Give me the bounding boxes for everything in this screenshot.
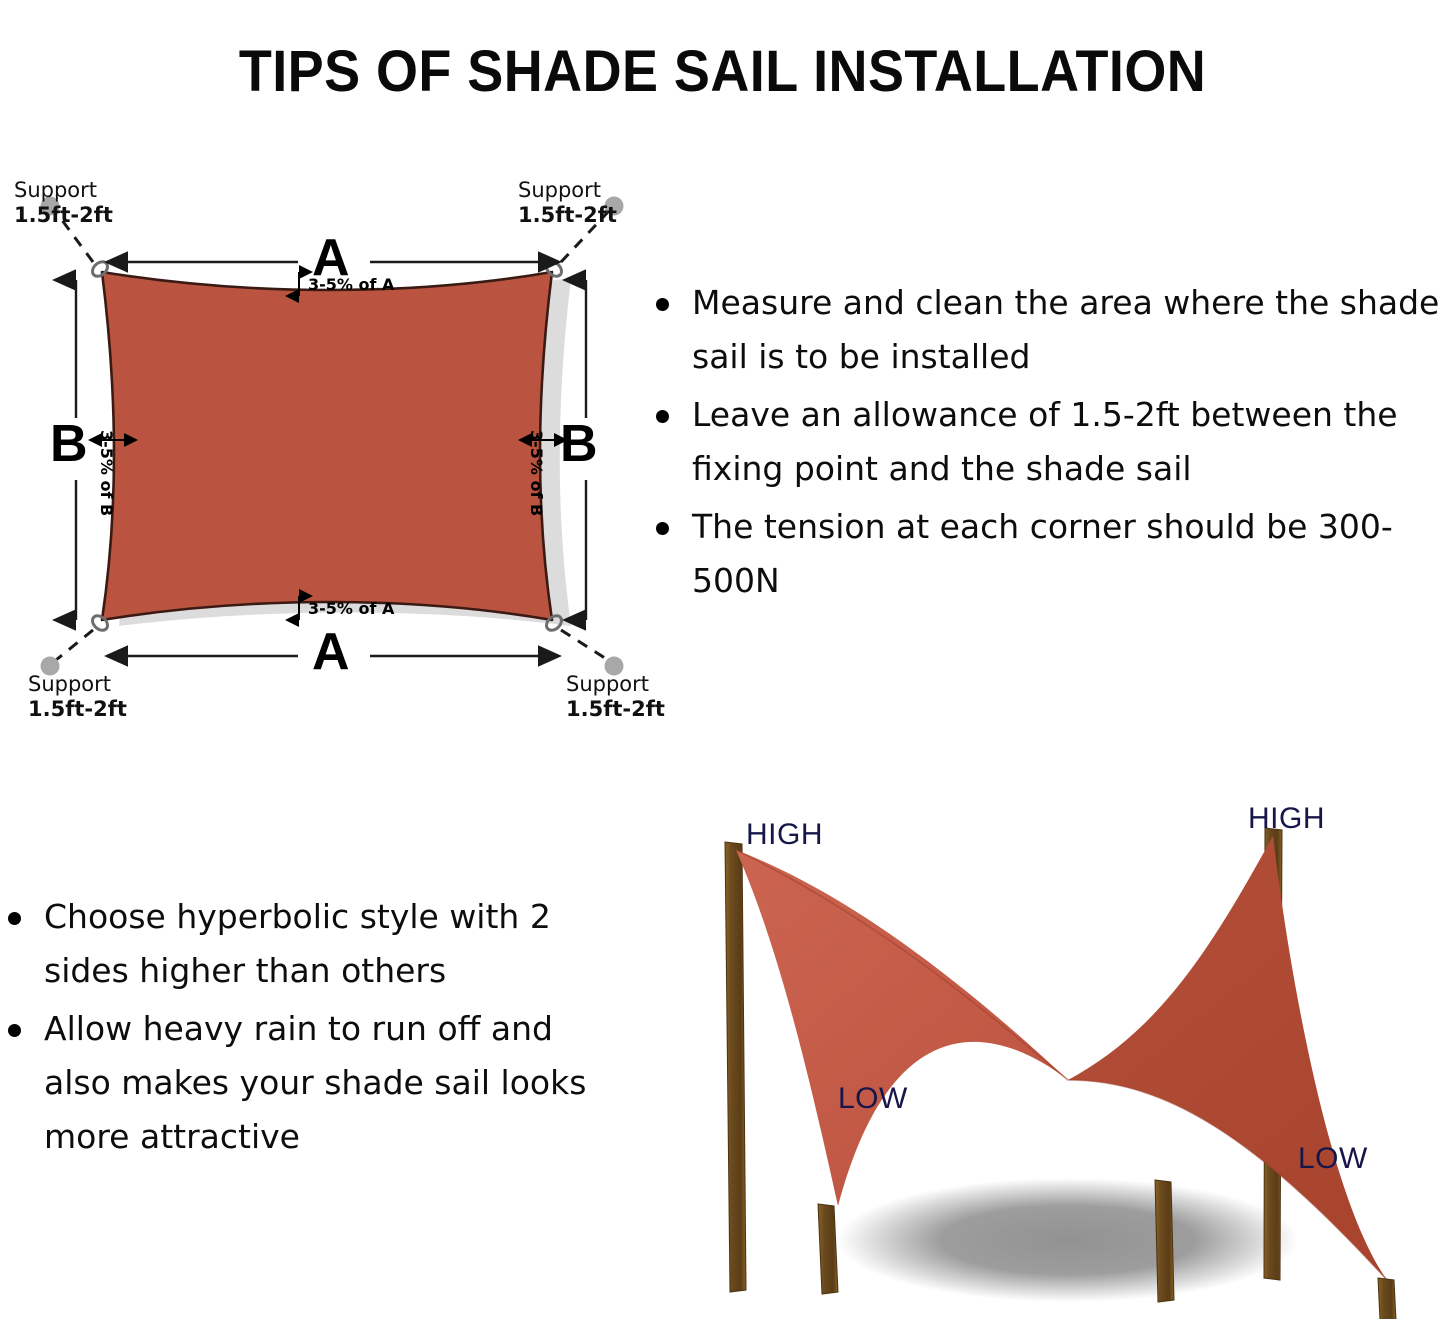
list-item: Allow heavy rain to run off and also mak… xyxy=(0,1002,630,1164)
dimension-letter-a-bottom: A xyxy=(312,626,350,678)
curvature-label-left-b: 3-5% of B xyxy=(97,430,116,516)
hyperbolic-style-tips-list: Choose hyperbolic style with 2 sides hig… xyxy=(0,890,630,1168)
label-high-left: HIGH xyxy=(746,818,823,852)
curvature-label-bottom-a: 3-5% of A xyxy=(308,599,394,618)
support-label-line1: Support xyxy=(566,672,649,696)
list-item: Choose hyperbolic style with 2 sides hig… xyxy=(0,890,630,998)
support-label-bottom-left: Support 1.5ft-2ft xyxy=(28,672,127,722)
label-high-right: HIGH xyxy=(1248,802,1325,836)
post-low-mid xyxy=(1155,1180,1174,1302)
ground-shadow xyxy=(838,1178,1298,1302)
dimension-letter-b-left: B xyxy=(50,418,88,470)
curvature-label-top-a: 3-5% of A xyxy=(308,275,394,294)
support-label-line2: 1.5ft-2ft xyxy=(566,697,665,722)
list-item: The tension at each corner should be 300… xyxy=(648,500,1445,608)
curvature-label-right-b: 3-5% of B xyxy=(527,430,546,516)
page-title: TIPS OF SHADE SAIL INSTALLATION xyxy=(51,39,1395,103)
support-label-top-left: Support 1.5ft-2ft xyxy=(14,178,113,228)
label-low-left: LOW xyxy=(838,1082,908,1116)
rectangle-sail-diagram: Support 1.5ft-2ft Support 1.5ft-2ft Supp… xyxy=(0,150,680,750)
hyperbolic-sail-svg xyxy=(690,780,1445,1319)
support-label-top-right: Support 1.5ft-2ft xyxy=(518,178,617,228)
list-item: Measure and clean the area where the sha… xyxy=(648,276,1445,384)
dimension-letter-b-right: B xyxy=(560,418,598,470)
post-high-left xyxy=(725,842,746,1292)
support-label-line1: Support xyxy=(14,178,97,202)
support-label-bottom-right: Support 1.5ft-2ft xyxy=(566,672,665,722)
support-label-line2: 1.5ft-2ft xyxy=(28,697,127,722)
hyperbolic-sail-diagram: HIGH HIGH LOW LOW xyxy=(690,780,1445,1319)
support-label-line1: Support xyxy=(518,178,601,202)
support-label-line1: Support xyxy=(28,672,111,696)
list-item: Leave an allowance of 1.5-2ft between th… xyxy=(648,388,1445,496)
support-label-line2: 1.5ft-2ft xyxy=(518,203,617,228)
support-label-line2: 1.5ft-2ft xyxy=(14,203,113,228)
post-low-right xyxy=(1378,1278,1396,1319)
label-low-right: LOW xyxy=(1298,1142,1368,1176)
post-low-left xyxy=(818,1204,838,1294)
installation-tips-list: Measure and clean the area where the sha… xyxy=(648,276,1445,612)
rectangle-sail-fabric xyxy=(102,272,552,620)
